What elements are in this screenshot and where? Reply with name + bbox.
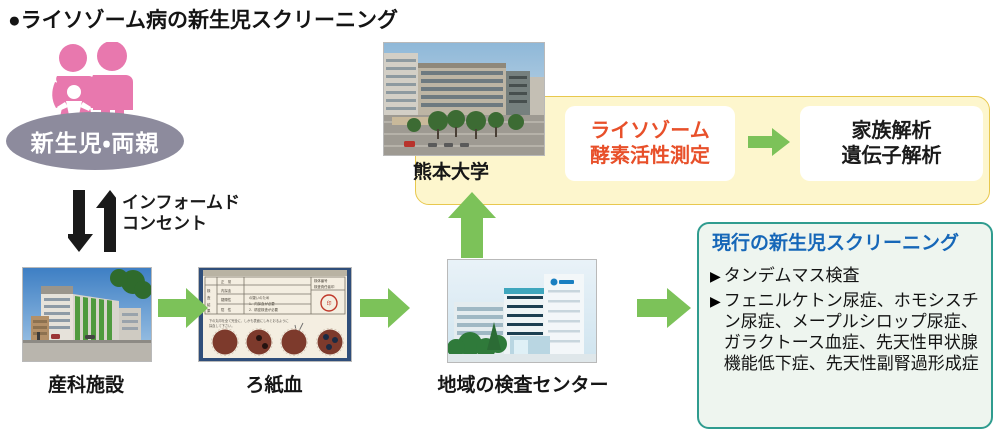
enzyme-card-line1: ライソゾーム — [590, 119, 710, 144]
screening-item-text: フェニルケトン尿症、ホモシスチン尿症、メープルシロップ尿症、ガラクトース血症、先… — [724, 290, 988, 374]
arrow-filterpaper-to-center — [360, 288, 410, 328]
svg-text:採血して下さい。: 採血して下さい。 — [209, 323, 234, 328]
screening-list-item: ▶ フェニルケトン尿症、ホモシスチン尿症、メープルシロップ尿症、ガラクトース血症… — [710, 290, 988, 374]
obstetric-facility-caption: 産科施設 — [0, 370, 172, 397]
arrow-center-to-kumamoto — [448, 192, 496, 258]
obstetric-facility-photo — [22, 267, 152, 362]
informed-consent-label: インフォームド コンセント — [122, 192, 240, 234]
arrow-center-to-screening — [637, 288, 691, 328]
kumamoto-university-photo — [383, 42, 545, 156]
enzyme-card-line2: 酵素活性測定 — [590, 144, 710, 169]
current-screening-heading: 現行の新生児スクリーニング — [712, 228, 984, 255]
triangle-bullet-icon: ▶ — [710, 266, 721, 287]
screening-item-text: タンデムマス検査 — [724, 265, 860, 286]
arrow-obstetric-to-filterpaper — [158, 288, 208, 328]
svg-text:2．精密検査が必要: 2．精密検査が必要 — [249, 307, 279, 312]
svg-text:1．内採血が必要: 1．内採血が必要 — [249, 301, 275, 306]
svg-text:陰 性: 陰 性 — [221, 307, 232, 312]
bidirectional-arrows-icon — [68, 190, 116, 252]
regional-testing-center-caption: 地域の検査センター — [432, 370, 614, 397]
svg-text:下の丸印を全て完全に、しかも表面にしみとおるように: 下の丸印を全て完全に、しかも表面にしみとおるように — [209, 318, 289, 323]
newborn-parents-label: 新生児・両親 — [6, 112, 184, 170]
svg-text:の疑いのため: の疑いのため — [249, 295, 270, 300]
svg-text:印: 印 — [326, 300, 331, 307]
svg-text:内採血: 内採血 — [221, 288, 232, 293]
diagram-canvas: ●ライソゾーム病の新生児スクリーニング — [0, 0, 1000, 434]
page-title: ●ライソゾーム病の新生児スクリーニング — [8, 4, 398, 34]
screening-list-item: ▶ タンデムマス検査 — [710, 265, 986, 287]
filter-paper-blood-caption: ろ紙血 — [198, 370, 350, 397]
analysis-card-line2: 遺伝子解析 — [842, 144, 942, 169]
svg-text:正 常: 正 常 — [221, 279, 232, 284]
family-gene-analysis-card: 家族解析 遺伝子解析 — [800, 106, 983, 181]
svg-text:検体番号: 検体番号 — [314, 278, 328, 283]
svg-text:検査責任者印: 検査責任者印 — [314, 284, 335, 289]
triangle-bullet-icon: ▶ — [710, 291, 721, 312]
svg-text:疑陽性: 疑陽性 — [221, 297, 232, 302]
enzyme-activity-card: ライソゾーム 酵素活性測定 — [565, 106, 735, 181]
filter-paper-blood-photo: 正 常 内採血 疑陽性 陰 性 の疑いのため 1．内採血が必要 2．精密検査が必… — [198, 267, 352, 362]
kumamoto-university-caption: 熊本大学 — [413, 157, 543, 184]
regional-testing-center-photo — [447, 259, 597, 363]
arrow-enzyme-to-analysis — [748, 128, 790, 156]
analysis-card-line1: 家族解析 — [842, 119, 942, 144]
